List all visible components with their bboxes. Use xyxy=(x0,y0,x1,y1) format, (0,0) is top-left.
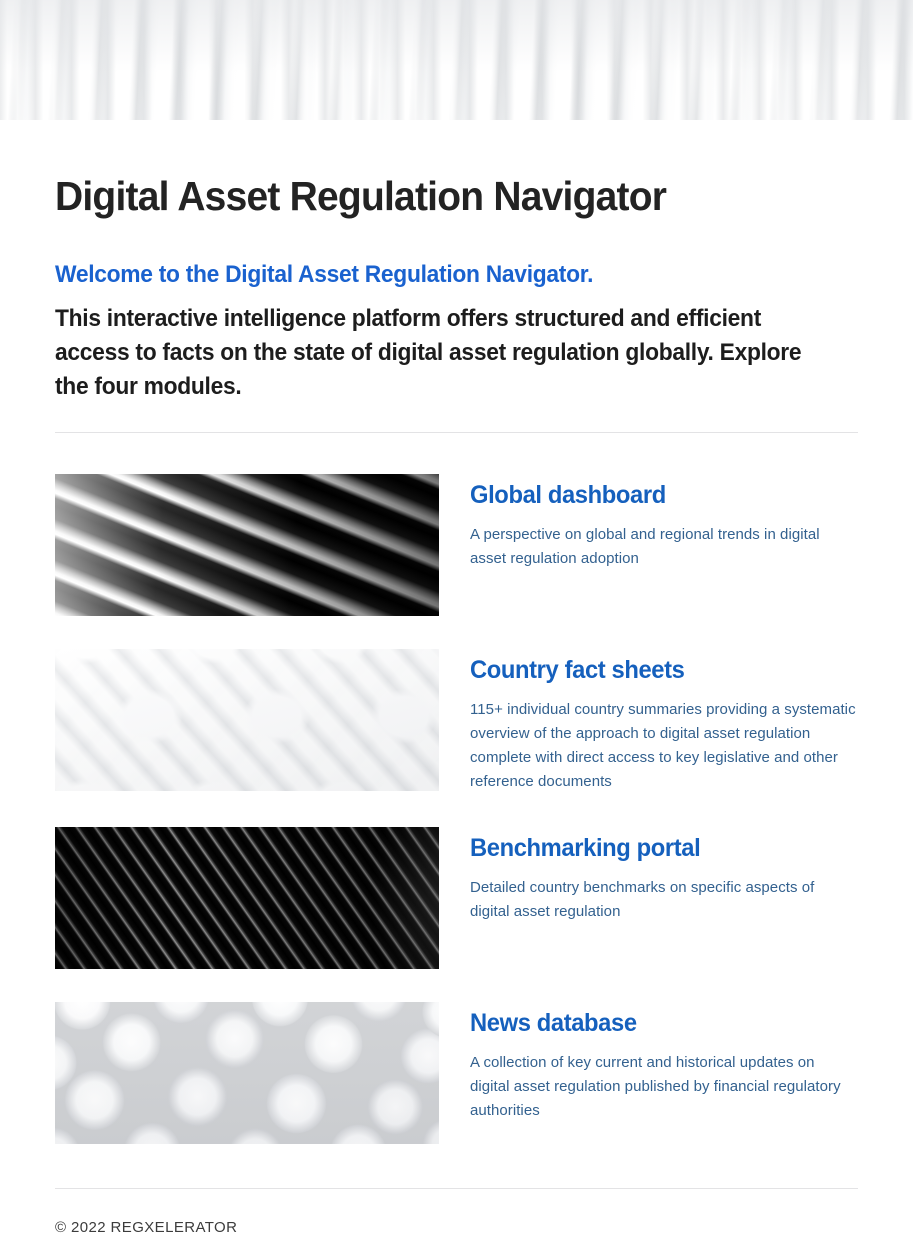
module-title-country-fact-sheets[interactable]: Country fact sheets xyxy=(470,655,839,685)
module-title-news-database[interactable]: News database xyxy=(470,1008,839,1038)
footer-divider xyxy=(55,1188,858,1189)
module-thumbnail-news-database[interactable] xyxy=(55,1002,439,1144)
module-thumbnail-country-fact-sheets[interactable] xyxy=(55,649,439,791)
module-item-country-fact-sheets[interactable]: Country fact sheets 115+ individual coun… xyxy=(55,616,858,794)
copyright-text: © 2022 REGXELERATOR xyxy=(55,1197,858,1238)
module-text-country-fact-sheets: Country fact sheets 115+ individual coun… xyxy=(439,649,858,794)
module-item-global-dashboard[interactable]: Global dashboard A perspective on global… xyxy=(55,441,858,616)
hero-banner xyxy=(0,0,913,120)
module-description-news-database: A collection of key current and historic… xyxy=(470,1038,858,1123)
module-list: Global dashboard A perspective on global… xyxy=(55,441,858,1144)
module-text-global-dashboard: Global dashboard A perspective on global… xyxy=(439,474,858,571)
module-thumbnail-benchmarking-portal[interactable] xyxy=(55,827,439,969)
module-text-benchmarking-portal: Benchmarking portal Detailed country ben… xyxy=(439,827,858,924)
welcome-heading: Welcome to the Digital Asset Regulation … xyxy=(55,219,818,290)
page-title: Digital Asset Regulation Navigator xyxy=(55,120,818,219)
module-item-benchmarking-portal[interactable]: Benchmarking portal Detailed country ben… xyxy=(55,794,858,969)
module-title-benchmarking-portal[interactable]: Benchmarking portal xyxy=(470,833,839,863)
module-text-news-database: News database A collection of key curren… xyxy=(439,1002,858,1123)
module-thumbnail-global-dashboard[interactable] xyxy=(55,474,439,616)
page-content: Digital Asset Regulation Navigator Welco… xyxy=(55,120,858,1238)
hero-banner-image xyxy=(0,0,913,120)
module-description-benchmarking-portal: Detailed country benchmarks on specific … xyxy=(470,863,858,924)
module-title-global-dashboard[interactable]: Global dashboard xyxy=(470,480,839,510)
module-description-global-dashboard: A perspective on global and regional tre… xyxy=(470,510,858,571)
module-description-country-fact-sheets: 115+ individual country summaries provid… xyxy=(470,685,858,794)
intro-paragraph: This interactive intelligence platform o… xyxy=(55,290,806,404)
top-divider xyxy=(55,432,858,433)
module-item-news-database[interactable]: News database A collection of key curren… xyxy=(55,969,858,1144)
